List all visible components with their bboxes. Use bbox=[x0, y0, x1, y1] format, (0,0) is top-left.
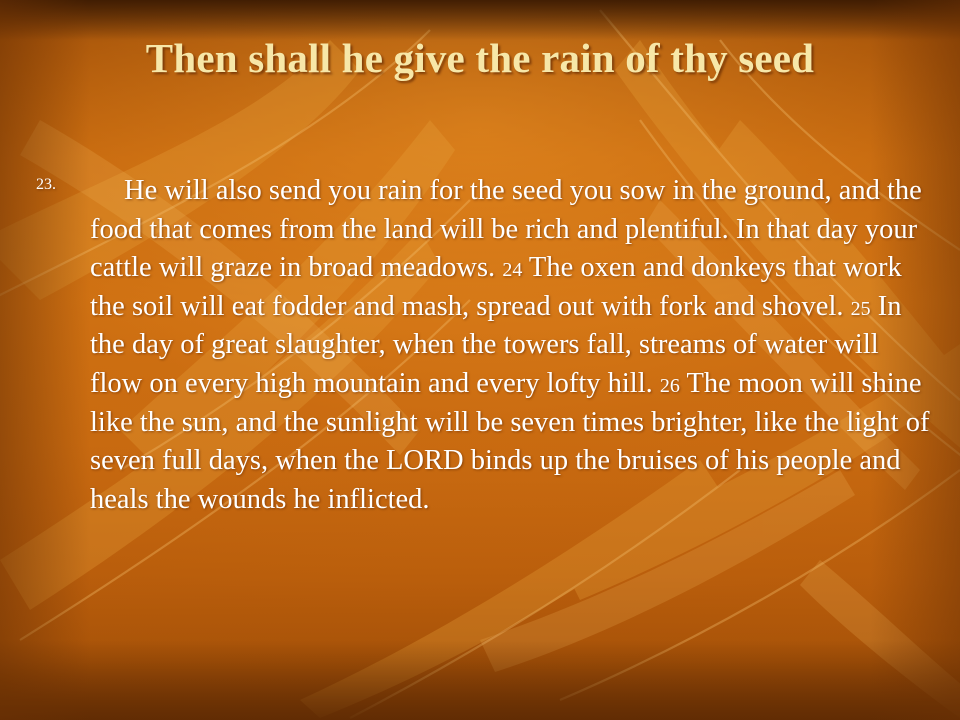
scripture-text: He will also send you rain for the seed … bbox=[90, 175, 929, 515]
slide-title: Then shall he give the rain of thy seed bbox=[40, 32, 920, 84]
slide-body: 23. He will also send you rain for the s… bbox=[28, 172, 934, 519]
verse-number: 26 bbox=[660, 375, 680, 397]
verse-number: 24 bbox=[502, 259, 522, 281]
scripture-paragraph: 23. He will also send you rain for the s… bbox=[28, 172, 934, 519]
verse-marker: 23. bbox=[36, 174, 56, 196]
verse-number: 25 bbox=[851, 298, 871, 320]
slide: Then shall he give the rain of thy seed … bbox=[0, 0, 960, 720]
